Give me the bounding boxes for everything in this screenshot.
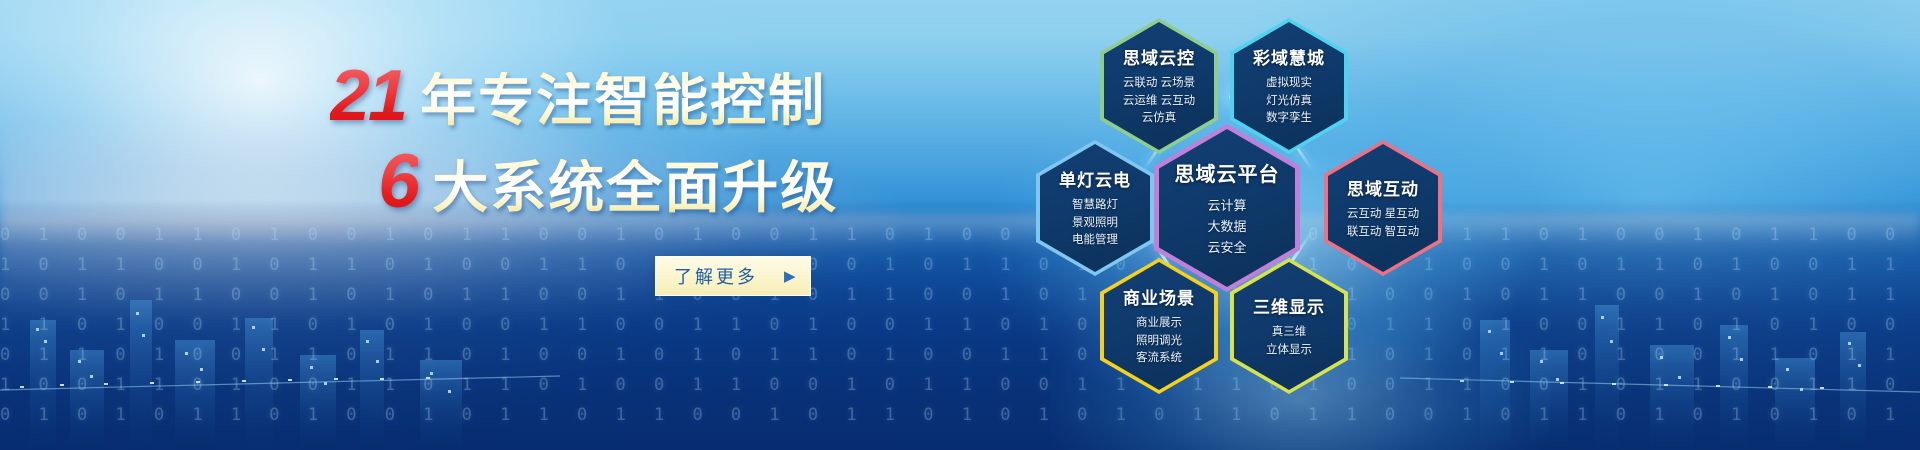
hex-caiyu-huicheng[interactable]: 彩域慧城 虚拟现实 灯光仿真 数字孪生 xyxy=(1230,18,1348,154)
hex-line: 智慧路灯 xyxy=(1059,197,1131,215)
hex-content: 商业场景 商业展示 照明调光 客流系统 xyxy=(1117,284,1201,368)
hex-lines: 商业展示 照明调光 客流系统 xyxy=(1123,315,1195,368)
learn-more-label: 了解更多 xyxy=(674,263,758,289)
headline-text-1: 年专注智能控制 xyxy=(420,72,826,131)
hex-line: 虚拟现实 xyxy=(1253,75,1325,93)
hex-line: 云仿真 xyxy=(1123,110,1195,128)
hexagon-cluster: 思域云控 云联动 云场景 云运维 云互动 云仿真 彩域慧城 虚拟现实 灯光仿真 … xyxy=(960,0,1600,450)
hex-title: 思域云平台 xyxy=(1175,158,1280,187)
hex-lines: 云联动 云场景 云运维 云互动 云仿真 xyxy=(1123,75,1195,128)
hex-line: 真三维 xyxy=(1253,324,1325,342)
hex-line: 云联动 云场景 xyxy=(1123,75,1195,93)
hex-line: 联互动 智互动 xyxy=(1347,224,1419,242)
hex-title: 商业场景 xyxy=(1123,284,1195,309)
headline-line-1: 21 年专注智能控制 xyxy=(330,60,950,132)
hex-content: 思域互动 云互动 星互动 联互动 智互动 xyxy=(1341,175,1425,242)
hex-line: 云运维 云互动 xyxy=(1123,93,1195,111)
hex-title: 思域互动 xyxy=(1347,175,1419,200)
hex-line: 灯光仿真 xyxy=(1253,93,1325,111)
hex-lines: 云互动 星互动 联互动 智互动 xyxy=(1347,206,1419,242)
hex-shangye-changjing[interactable]: 商业场景 商业展示 照明调光 客流系统 xyxy=(1100,258,1218,394)
hex-title: 彩域慧城 xyxy=(1253,44,1325,69)
hex-line: 数字孪生 xyxy=(1253,110,1325,128)
headline-block: 21 年专注智能控制 6 大系统全面升级 xyxy=(330,60,950,220)
hex-content: 彩域慧城 虚拟现实 灯光仿真 数字孪生 xyxy=(1247,44,1331,128)
hex-line: 云互动 星互动 xyxy=(1347,206,1419,224)
hex-line: 客流系统 xyxy=(1123,350,1195,368)
hex-line: 商业展示 xyxy=(1123,315,1195,333)
learn-more-button[interactable]: 了解更多 ▶ xyxy=(655,256,811,296)
hex-title: 思域云控 xyxy=(1123,44,1195,69)
hex-content: 思域云控 云联动 云场景 云运维 云互动 云仿真 xyxy=(1117,44,1201,128)
hex-lines: 智慧路灯 景观照明 电能管理 xyxy=(1059,197,1131,250)
hex-line: 立体显示 xyxy=(1253,342,1325,360)
hex-content: 三维显示 真三维 立体显示 xyxy=(1247,293,1331,360)
hex-content: 单灯云电 智慧路灯 景观照明 电能管理 xyxy=(1053,166,1137,250)
hex-line: 景观照明 xyxy=(1059,215,1131,233)
hex-lines: 云计算 大数据 云安全 xyxy=(1175,195,1280,258)
headline-number-6: 6 xyxy=(378,144,418,220)
hex-title: 单灯云电 xyxy=(1059,166,1131,191)
headline-line-2: 6 大系统全面升级 xyxy=(330,144,950,220)
hex-line: 照明调光 xyxy=(1123,333,1195,351)
hex-title: 三维显示 xyxy=(1253,293,1325,318)
hex-line: 电能管理 xyxy=(1059,232,1131,250)
hex-lines: 真三维 立体显示 xyxy=(1253,324,1325,360)
hex-siyu-hudong[interactable]: 思域互动 云互动 星互动 联互动 智互动 xyxy=(1324,140,1442,276)
hex-line: 云计算 xyxy=(1175,195,1280,216)
headline-number-21: 21 xyxy=(330,60,406,132)
hex-content: 思域云平台 云计算 大数据 云安全 xyxy=(1169,158,1286,258)
promo-banner: 0 1 0 0 1 1 0 1 0 0 1 0 1 1 0 0 1 0 1 0 … xyxy=(0,0,1920,450)
hex-lines: 虚拟现实 灯光仿真 数字孪生 xyxy=(1253,75,1325,128)
hex-siyu-yunkong[interactable]: 思域云控 云联动 云场景 云运维 云互动 云仿真 xyxy=(1100,18,1218,154)
hex-line: 云安全 xyxy=(1175,237,1280,258)
hex-dandeng-yundian[interactable]: 单灯云电 智慧路灯 景观照明 电能管理 xyxy=(1036,140,1154,276)
hex-line: 大数据 xyxy=(1175,216,1280,237)
arrow-right-icon: ▶ xyxy=(784,269,796,284)
headline-text-2: 大系统全面升级 xyxy=(432,159,838,218)
